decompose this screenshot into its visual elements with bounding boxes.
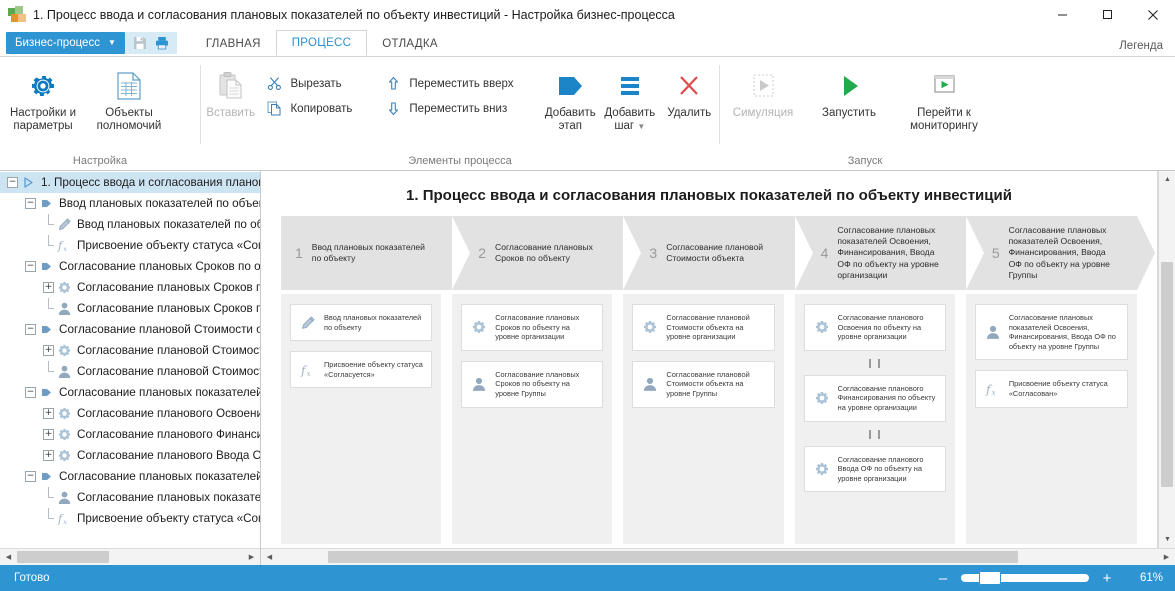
business-process-menu-button[interactable]: Бизнес-процесс ▼ (6, 32, 125, 54)
window-controls (1040, 0, 1175, 30)
stage-title: Согласование плановых Сроков по объекту (495, 242, 601, 264)
tree-item[interactable]: Ввод плановых показателей по объекту (0, 214, 260, 235)
gear-small-icon (641, 318, 659, 336)
run-button[interactable]: Запустить (806, 65, 892, 120)
move-up-button[interactable]: Переместить вверх (379, 71, 523, 96)
process-step-card[interactable]: fxПрисвоение объекту статуса «Согласуетс… (290, 351, 432, 388)
process-stages: 1Ввод плановых показателей по объектуВво… (261, 216, 1157, 544)
gear-small-icon (55, 446, 74, 465)
process-step-card[interactable]: Согласование плановой Стоимости объекта … (632, 361, 774, 408)
process-step-card[interactable]: Ввод плановых показателей по объекту (290, 304, 432, 341)
step-connector (804, 357, 946, 371)
tree-branch-line (43, 298, 54, 319)
application-window: 1. Процесс ввода и согласования плановых… (0, 0, 1175, 591)
tree-branch-line (43, 214, 54, 235)
stage-title: Согласование плановых показателей Освоен… (837, 225, 943, 281)
tree-item[interactable]: Согласование плановых показателей Освоен… (0, 487, 260, 508)
svg-text:x: x (991, 389, 995, 397)
tree-item[interactable]: +Согласование плановой Стоимости объекта… (0, 340, 260, 361)
fx-icon: fx (984, 380, 1002, 398)
ribbon-toolbar: Настройки и параметры (0, 56, 1175, 171)
expand-toggle-icon[interactable]: + (43, 450, 54, 461)
stage-number: 1 (295, 245, 303, 261)
stage-arrow-icon (37, 467, 56, 486)
person-icon (55, 299, 74, 318)
tree-indent (0, 214, 43, 235)
tree-item-label: Согласование плановой Стоимости объекта … (77, 365, 260, 378)
tree-hscroll-thumb[interactable] (17, 551, 109, 563)
ribbon-group-zapusk: Симуляция Запустить (720, 57, 1010, 170)
tree-item-label: Ввод плановых показателей по объекту (77, 218, 260, 231)
gear-icon (28, 69, 58, 103)
simulation-button[interactable]: Симуляция (720, 65, 806, 120)
expand-toggle-icon[interactable]: + (43, 408, 54, 419)
process-step-card[interactable]: fxПрисвоение объекту статуса «Согласован… (975, 370, 1128, 407)
arrow-up-icon (385, 75, 402, 92)
fx-icon: fx (55, 236, 74, 255)
tree-hscroll-track[interactable] (17, 549, 243, 565)
ribbon-group-nastroyka: Настройки и параметры (0, 57, 200, 170)
tree-item-label: Согласование планового Финансирования по… (77, 428, 260, 441)
tree-item-label: Ввод плановых показателей по объекту (59, 197, 260, 210)
process-step-card[interactable]: Согласование плановых Сроков по объекту … (461, 304, 603, 351)
add-step-text: Добавить шаг (604, 107, 655, 132)
diagram-area: 1. Процесс ввода и согласования плановых… (261, 171, 1175, 565)
tree-indent (0, 361, 43, 382)
stage-arrow-icon (37, 194, 56, 213)
tree-item[interactable]: −Согласование плановой Стоимости объекта (0, 319, 260, 340)
scroll-left-icon[interactable]: ◀ (0, 549, 17, 565)
process-stage: 5Согласование плановых показателей Освое… (966, 216, 1137, 544)
process-stage: 3Согласование плановой Стоимости объекта… (623, 216, 794, 544)
process-step-label: Согласование плановых показателей Освоен… (1009, 313, 1119, 351)
process-step-card[interactable]: Согласование планового Финансирования по… (804, 375, 946, 422)
svg-text:x: x (307, 370, 311, 378)
tree-indent (0, 466, 25, 487)
gear-small-icon (813, 318, 831, 336)
stage-header[interactable]: 1Ввод плановых показателей по объекту (281, 216, 452, 290)
process-step-card[interactable]: Согласование плановой Стоимости объекта … (632, 304, 774, 351)
close-button[interactable] (1130, 0, 1175, 30)
tree-item[interactable]: Согласование плановых Сроков по объекту … (0, 298, 260, 319)
zoom-in-button[interactable]: + (1099, 571, 1115, 586)
collapse-toggle-icon[interactable]: − (25, 324, 36, 335)
stage-header[interactable]: 5Согласование плановых показателей Освое… (966, 216, 1137, 290)
scroll-right-icon[interactable]: ▶ (243, 549, 260, 565)
process-step-label: Присвоение объекту статуса «Согласуется» (324, 360, 423, 379)
canvas-vertical-scrollbar[interactable]: ▲ ▼ (1158, 171, 1175, 548)
stage-body: Согласование плановых показателей Освоен… (966, 294, 1137, 544)
person-icon (55, 362, 74, 381)
canvas-hscroll-thumb[interactable] (328, 551, 1018, 563)
tree-indent (0, 319, 25, 340)
ribbon-tab-row: Бизнес-процесс ▼ ГЛАВНАЯ (0, 30, 1175, 56)
tab-glavnaya[interactable]: ГЛАВНАЯ (191, 32, 276, 56)
tree-item-label: Согласование планового Освоения по объек… (77, 407, 260, 420)
ribbon-group-elementy-processa: Вставить Вырезать (201, 57, 719, 170)
pencil-icon (299, 314, 317, 332)
process-step-card[interactable]: Согласование плановых Сроков по объекту … (461, 361, 603, 408)
copy-label: Копировать (290, 103, 352, 115)
authority-objects-button[interactable]: Объекты полномочий (86, 65, 172, 133)
process-tree[interactable]: −1. Процесс ввода и согласования плановы… (0, 171, 260, 548)
tree-item[interactable]: Согласование плановой Стоимости объекта … (0, 361, 260, 382)
stage-number: 3 (649, 245, 657, 261)
tree-item-label: Согласование плановой Стоимости объекта (59, 323, 260, 336)
process-arrow-icon (19, 173, 38, 192)
tree-item[interactable]: −Согласование плановых Сроков по объекту (0, 256, 260, 277)
gear-small-icon (55, 341, 74, 360)
tree-indent (0, 403, 43, 424)
tree-indent (0, 340, 43, 361)
tree-indent (0, 235, 43, 256)
tab-process[interactable]: ПРОЦЕСС (276, 30, 368, 56)
cross-icon (675, 69, 703, 103)
scroll-up-icon[interactable]: ▲ (1159, 171, 1175, 188)
process-tree-panel: −1. Процесс ввода и согласования плановы… (0, 171, 261, 565)
cut-button[interactable]: Вырезать (260, 71, 362, 96)
delete-label: Удалить (667, 107, 711, 120)
window-title: 1. Процесс ввода и согласования плановых… (33, 8, 1040, 22)
zoom-percent-label: 61% (1125, 572, 1163, 584)
process-stage: 4Согласование плановых показателей Освое… (795, 216, 966, 544)
person-icon (641, 375, 659, 393)
chevron-down-icon[interactable]: ▼ (637, 122, 645, 131)
paste-icon (218, 69, 244, 103)
step-connector (804, 428, 946, 442)
fx-icon: fx (55, 509, 74, 528)
canvas-hscroll-track[interactable] (278, 549, 1158, 565)
tree-branch-line (43, 235, 54, 256)
legend-link[interactable]: Легенда (1119, 40, 1163, 52)
ribbon-group-label-nastroyka: Настройка (0, 152, 200, 170)
tree-item-label: Согласование плановых показателей Освоен… (59, 386, 260, 399)
tree-branch-line (43, 361, 54, 382)
title-bar: 1. Процесс ввода и согласования плановых… (0, 0, 1175, 30)
diagram-title: 1. Процесс ввода и согласования плановых… (261, 187, 1157, 204)
minimize-button[interactable] (1040, 0, 1085, 30)
expand-toggle-icon[interactable]: + (43, 429, 54, 440)
tree-branch-line (43, 487, 54, 508)
stage-chevron-notch-icon (623, 216, 641, 290)
run-label: Запустить (822, 107, 876, 120)
chevron-block-icon (555, 69, 585, 103)
canvas-vscroll-thumb[interactable] (1161, 262, 1173, 487)
ribbon-group-label-elementy: Элементы процесса (201, 152, 719, 170)
stage-arrow-icon (37, 257, 56, 276)
tree-item-label: Присвоение объекту статуса «Согласуется» (77, 239, 260, 252)
tree-item[interactable]: −1. Процесс ввода и согласования плановы… (0, 172, 260, 193)
gear-small-icon (55, 404, 74, 423)
zoom-slider[interactable] (961, 574, 1089, 582)
tree-item-label: 1. Процесс ввода и согласования плановых… (41, 176, 260, 189)
svg-text:x: x (63, 245, 67, 253)
tree-item[interactable]: −Согласование плановых показателей Освое… (0, 382, 260, 403)
zoom-slider-thumb[interactable] (979, 571, 1001, 585)
tree-indent (0, 193, 25, 214)
expand-toggle-icon[interactable]: + (43, 345, 54, 356)
gear-small-icon (55, 278, 74, 297)
business-process-menu-label: Бизнес-процесс (15, 37, 100, 49)
zoom-control: – + 61% (935, 571, 1163, 586)
arrow-down-icon (385, 100, 402, 117)
process-stage: 2Согласование плановых Сроков по объекту… (452, 216, 623, 544)
stage-number: 2 (478, 245, 486, 261)
app-tiles-icon (8, 6, 26, 24)
stage-title: Согласование плановых показателей Освоен… (1009, 225, 1115, 281)
move-up-label: Переместить вверх (409, 78, 513, 90)
scroll-left-icon[interactable]: ◀ (261, 549, 278, 565)
settings-and-parameters-label: Настройки и параметры (10, 107, 76, 133)
process-step-label: Согласование плановой Стоимости объекта … (666, 313, 765, 342)
add-step-label: Добавить шаг ▼ (604, 107, 655, 133)
play-outline-icon (748, 69, 778, 103)
collapse-toggle-icon[interactable]: − (25, 387, 36, 398)
process-step-label: Согласование плановых Сроков по объекту … (495, 370, 594, 399)
tree-item-label: Согласование плановых показателей Освоен… (77, 491, 260, 504)
process-step-card[interactable]: Согласование планового Ввода ОФ по объек… (804, 446, 946, 493)
add-stage-label: Добавить этап (545, 107, 596, 133)
stage-number: 4 (821, 245, 829, 261)
tree-indent (0, 172, 7, 193)
fx-icon: fx (299, 361, 317, 379)
tree-indent (0, 256, 25, 277)
clipboard-small-buttons: Вырезать Копировать (260, 65, 362, 121)
process-stage: 1Ввод плановых показателей по объектуВво… (281, 216, 452, 544)
stage-body: Согласование планового Освоения по объек… (795, 294, 955, 544)
stage-chevron-notch-icon (795, 216, 813, 290)
tree-item[interactable]: fxПрисвоение объекту статуса «Согласован… (0, 508, 260, 529)
stage-arrow-icon (37, 320, 56, 339)
play-green-icon (834, 69, 864, 103)
delete-button[interactable]: Удалить (660, 65, 719, 120)
pencil-icon (55, 215, 74, 234)
move-down-button[interactable]: Переместить вниз (379, 96, 523, 121)
add-stage-button[interactable]: Добавить этап (541, 65, 600, 133)
tree-item[interactable]: −Согласование плановых показателей Освое… (0, 466, 260, 487)
stage-body: Согласование плановой Стоимости объекта … (623, 294, 783, 544)
go-to-monitoring-label: Перейти к мониторингу (910, 107, 978, 133)
ribbon-tabs: ГЛАВНАЯ ПРОЦЕСС ОТЛАДКА (191, 30, 453, 56)
tree-item-label: Согласование плановой Стоимости объекта … (77, 344, 260, 357)
tree-item-label: Согласование плановых Сроков по объекту … (77, 302, 260, 315)
process-step-label: Согласование планового Ввода ОФ по объек… (838, 455, 937, 484)
stage-title: Согласование плановой Стоимости объекта (666, 242, 772, 264)
maximize-button[interactable] (1085, 0, 1130, 30)
zoom-out-button[interactable]: – (935, 571, 951, 586)
svg-text:x: x (63, 518, 67, 526)
scissors-icon (266, 75, 283, 92)
gear-small-icon (470, 318, 488, 336)
person-icon (984, 323, 1002, 341)
gear-small-icon (813, 460, 831, 478)
person-icon (55, 488, 74, 507)
authority-objects-label: Объекты полномочий (97, 107, 162, 133)
canvas-vscroll-track[interactable] (1159, 188, 1175, 531)
workspace: −1. Процесс ввода и согласования плановы… (0, 171, 1175, 565)
tree-item-label: Присвоение объекту статуса «Согласован» (77, 512, 260, 525)
tree-item[interactable]: +Согласование планового Финансирования п… (0, 424, 260, 445)
tree-indent (0, 508, 43, 529)
tree-horizontal-scrollbar[interactable]: ◀ ▶ (0, 548, 260, 565)
chevron-down-icon: ▼ (108, 39, 116, 47)
tree-indent (0, 424, 43, 445)
tree-item-label: Согласование плановых Сроков по объекту (59, 260, 260, 273)
process-step-card[interactable]: Согласование плановых показателей Освоен… (975, 304, 1128, 360)
add-step-button[interactable]: Добавить шаг ▼ (600, 65, 659, 133)
tab-otladka[interactable]: ОТЛАДКА (367, 32, 453, 56)
scroll-right-icon[interactable]: ▶ (1158, 549, 1175, 565)
collapse-toggle-icon[interactable]: − (7, 177, 18, 188)
move-small-buttons: Переместить вверх Переместить вниз (379, 65, 523, 121)
collapse-toggle-icon[interactable]: − (25, 198, 36, 209)
lines-icon (615, 69, 645, 103)
stage-chevron-right-icon (1137, 216, 1155, 290)
quick-access-toolbar (125, 32, 177, 54)
process-step-label: Согласование плановой Стоимости объекта … (666, 370, 765, 399)
status-bar: Готово – + 61% (0, 565, 1175, 591)
tree-item[interactable]: −Ввод плановых показателей по объекту (0, 193, 260, 214)
status-text: Готово (8, 572, 935, 584)
gear-small-icon (813, 389, 831, 407)
tree-item-label: Согласование плановых Сроков по объекту … (77, 281, 260, 294)
tree-item-label: Согласование плановых показателей Освоен… (59, 470, 260, 483)
stage-header[interactable]: 4Согласование плановых показателей Освое… (795, 216, 966, 290)
paste-label: Вставить (206, 107, 255, 120)
process-step-label: Присвоение объекту статуса «Согласован» (1009, 379, 1119, 398)
expand-toggle-icon[interactable]: + (43, 282, 54, 293)
canvas-horizontal-scrollbar[interactable]: ◀ ▶ (261, 548, 1175, 565)
process-step-label: Согласование плановых Сроков по объекту … (495, 313, 594, 342)
process-step-label: Согласование планового Финансирования по… (838, 384, 937, 413)
process-step-card[interactable]: Согласование планового Освоения по объек… (804, 304, 946, 351)
cut-label: Вырезать (290, 78, 341, 90)
table-document-icon (115, 69, 143, 103)
stage-number: 5 (992, 245, 1000, 261)
tree-item-label: Согласование планового Ввода ОФ по объек… (77, 449, 260, 462)
tree-item[interactable]: +Согласование плановых Сроков по объекту… (0, 277, 260, 298)
go-to-monitoring-button[interactable]: Перейти к мониторингу (901, 65, 987, 133)
process-step-label: Согласование планового Освоения по объек… (838, 313, 937, 342)
stage-header[interactable]: 2Согласование плановых Сроков по объекту (452, 216, 623, 290)
tree-indent (0, 487, 43, 508)
monitor-play-icon (928, 69, 960, 103)
simulation-label: Симуляция (733, 107, 793, 120)
tree-indent (0, 277, 43, 298)
save-icon[interactable] (129, 33, 151, 53)
person-icon (470, 375, 488, 393)
move-down-label: Переместить вниз (409, 103, 507, 115)
copy-button[interactable]: Копировать (260, 96, 362, 121)
paste-button[interactable]: Вставить (201, 65, 260, 120)
process-step-label: Ввод плановых показателей по объекту (324, 313, 423, 332)
collapse-toggle-icon[interactable]: − (25, 261, 36, 272)
stage-arrow-icon (37, 383, 56, 402)
tree-item[interactable]: fxПрисвоение объекту статуса «Согласуетс… (0, 235, 260, 256)
stage-chevron-notch-icon (452, 216, 470, 290)
tree-indent (0, 445, 43, 466)
tree-branch-line (43, 508, 54, 529)
scroll-down-icon[interactable]: ▼ (1159, 531, 1175, 548)
tree-indent (0, 382, 25, 403)
tree-item[interactable]: +Согласование планового Освоения по объе… (0, 403, 260, 424)
stage-body: Согласование плановых Сроков по объекту … (452, 294, 612, 544)
print-icon[interactable] (151, 33, 173, 53)
stage-chevron-notch-icon (966, 216, 984, 290)
gear-small-icon (55, 425, 74, 444)
tree-indent (0, 298, 43, 319)
ribbon-group-label-zapusk: Запуск (720, 152, 1010, 170)
stage-body: Ввод плановых показателей по объектуfxПр… (281, 294, 441, 544)
stage-title: Ввод плановых показателей по объекту (312, 242, 430, 264)
settings-and-parameters-button[interactable]: Настройки и параметры (0, 65, 86, 133)
tree-item[interactable]: +Согласование планового Ввода ОФ по объе… (0, 445, 260, 466)
collapse-toggle-icon[interactable]: − (25, 471, 36, 482)
stage-header[interactable]: 3Согласование плановой Стоимости объекта (623, 216, 794, 290)
copy-icon (266, 100, 283, 117)
diagram-canvas[interactable]: 1. Процесс ввода и согласования плановых… (261, 171, 1158, 548)
